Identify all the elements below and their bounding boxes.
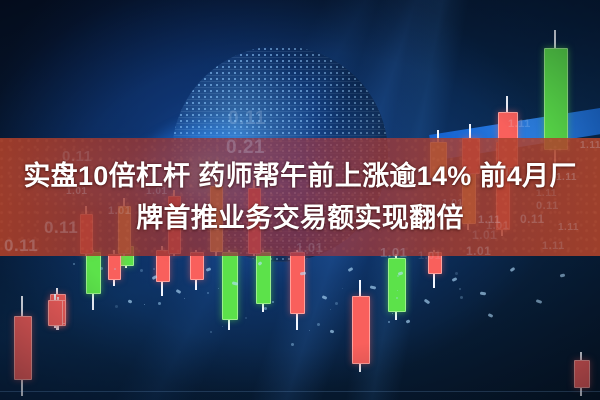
ticker-number: 1.11	[508, 118, 531, 130]
headline-line-1: 实盘10倍杠杆 药师帮午前上涨逾14% 前4月厂	[23, 156, 576, 196]
headline-line-2: 牌首推业务交易额实现翻倍	[136, 198, 464, 238]
ticker-number: 0.11	[228, 108, 266, 130]
bottom-divider	[0, 391, 600, 392]
headline-block: 实盘10倍杠杆 药师帮午前上涨逾14% 前4月厂 牌首推业务交易额实现翻倍	[0, 138, 600, 256]
news-thumbnail: 0.111.010.110.111.011.010.110.210.211.01…	[0, 0, 600, 400]
